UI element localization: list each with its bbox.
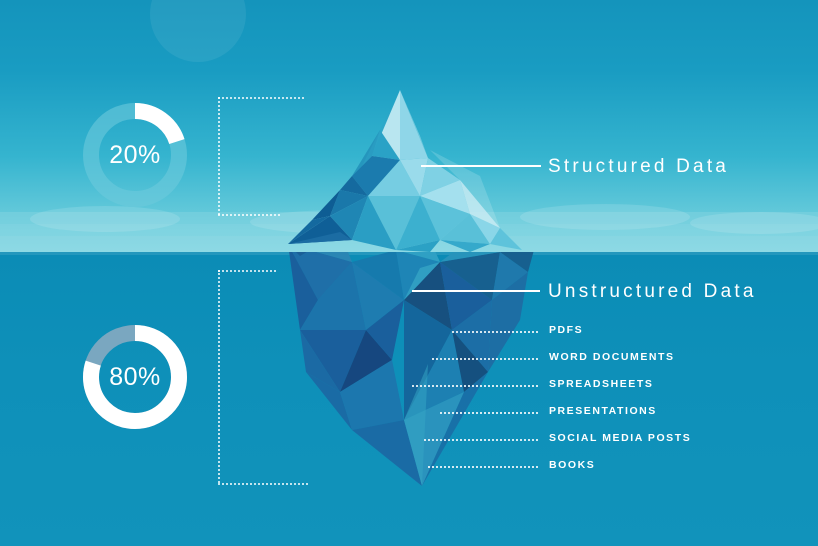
leader-line <box>440 412 538 414</box>
iceberg-illustration <box>0 0 818 546</box>
list-item-label: WORD DOCUMENTS <box>549 351 675 363</box>
donut-chart-structured: 20% <box>78 98 192 212</box>
connector-line-structured <box>421 165 541 167</box>
leader-line <box>428 466 538 468</box>
list-item-label: PRESENTATIONS <box>549 405 657 417</box>
list-item-label: BOOKS <box>549 459 595 471</box>
iceberg-abovewater <box>288 90 522 252</box>
leader-line <box>452 331 538 333</box>
donut-bottom-value: 80% <box>78 320 192 434</box>
leader-line <box>424 439 538 441</box>
list-item-label: PDFS <box>549 324 583 336</box>
label-unstructured-data: Unstructured Data <box>548 281 757 303</box>
infographic-canvas: 20% 80% Structured Data Unstructured Dat… <box>0 0 818 546</box>
leader-line <box>412 385 538 387</box>
label-structured-data: Structured Data <box>548 156 729 178</box>
list-item-label: SPREADSHEETS <box>549 378 653 390</box>
donut-chart-unstructured: 80% <box>78 320 192 434</box>
donut-top-value: 20% <box>78 98 192 212</box>
connector-line-unstructured <box>412 290 540 292</box>
list-item-label: SOCIAL MEDIA POSTS <box>549 432 691 444</box>
leader-line <box>432 358 538 360</box>
